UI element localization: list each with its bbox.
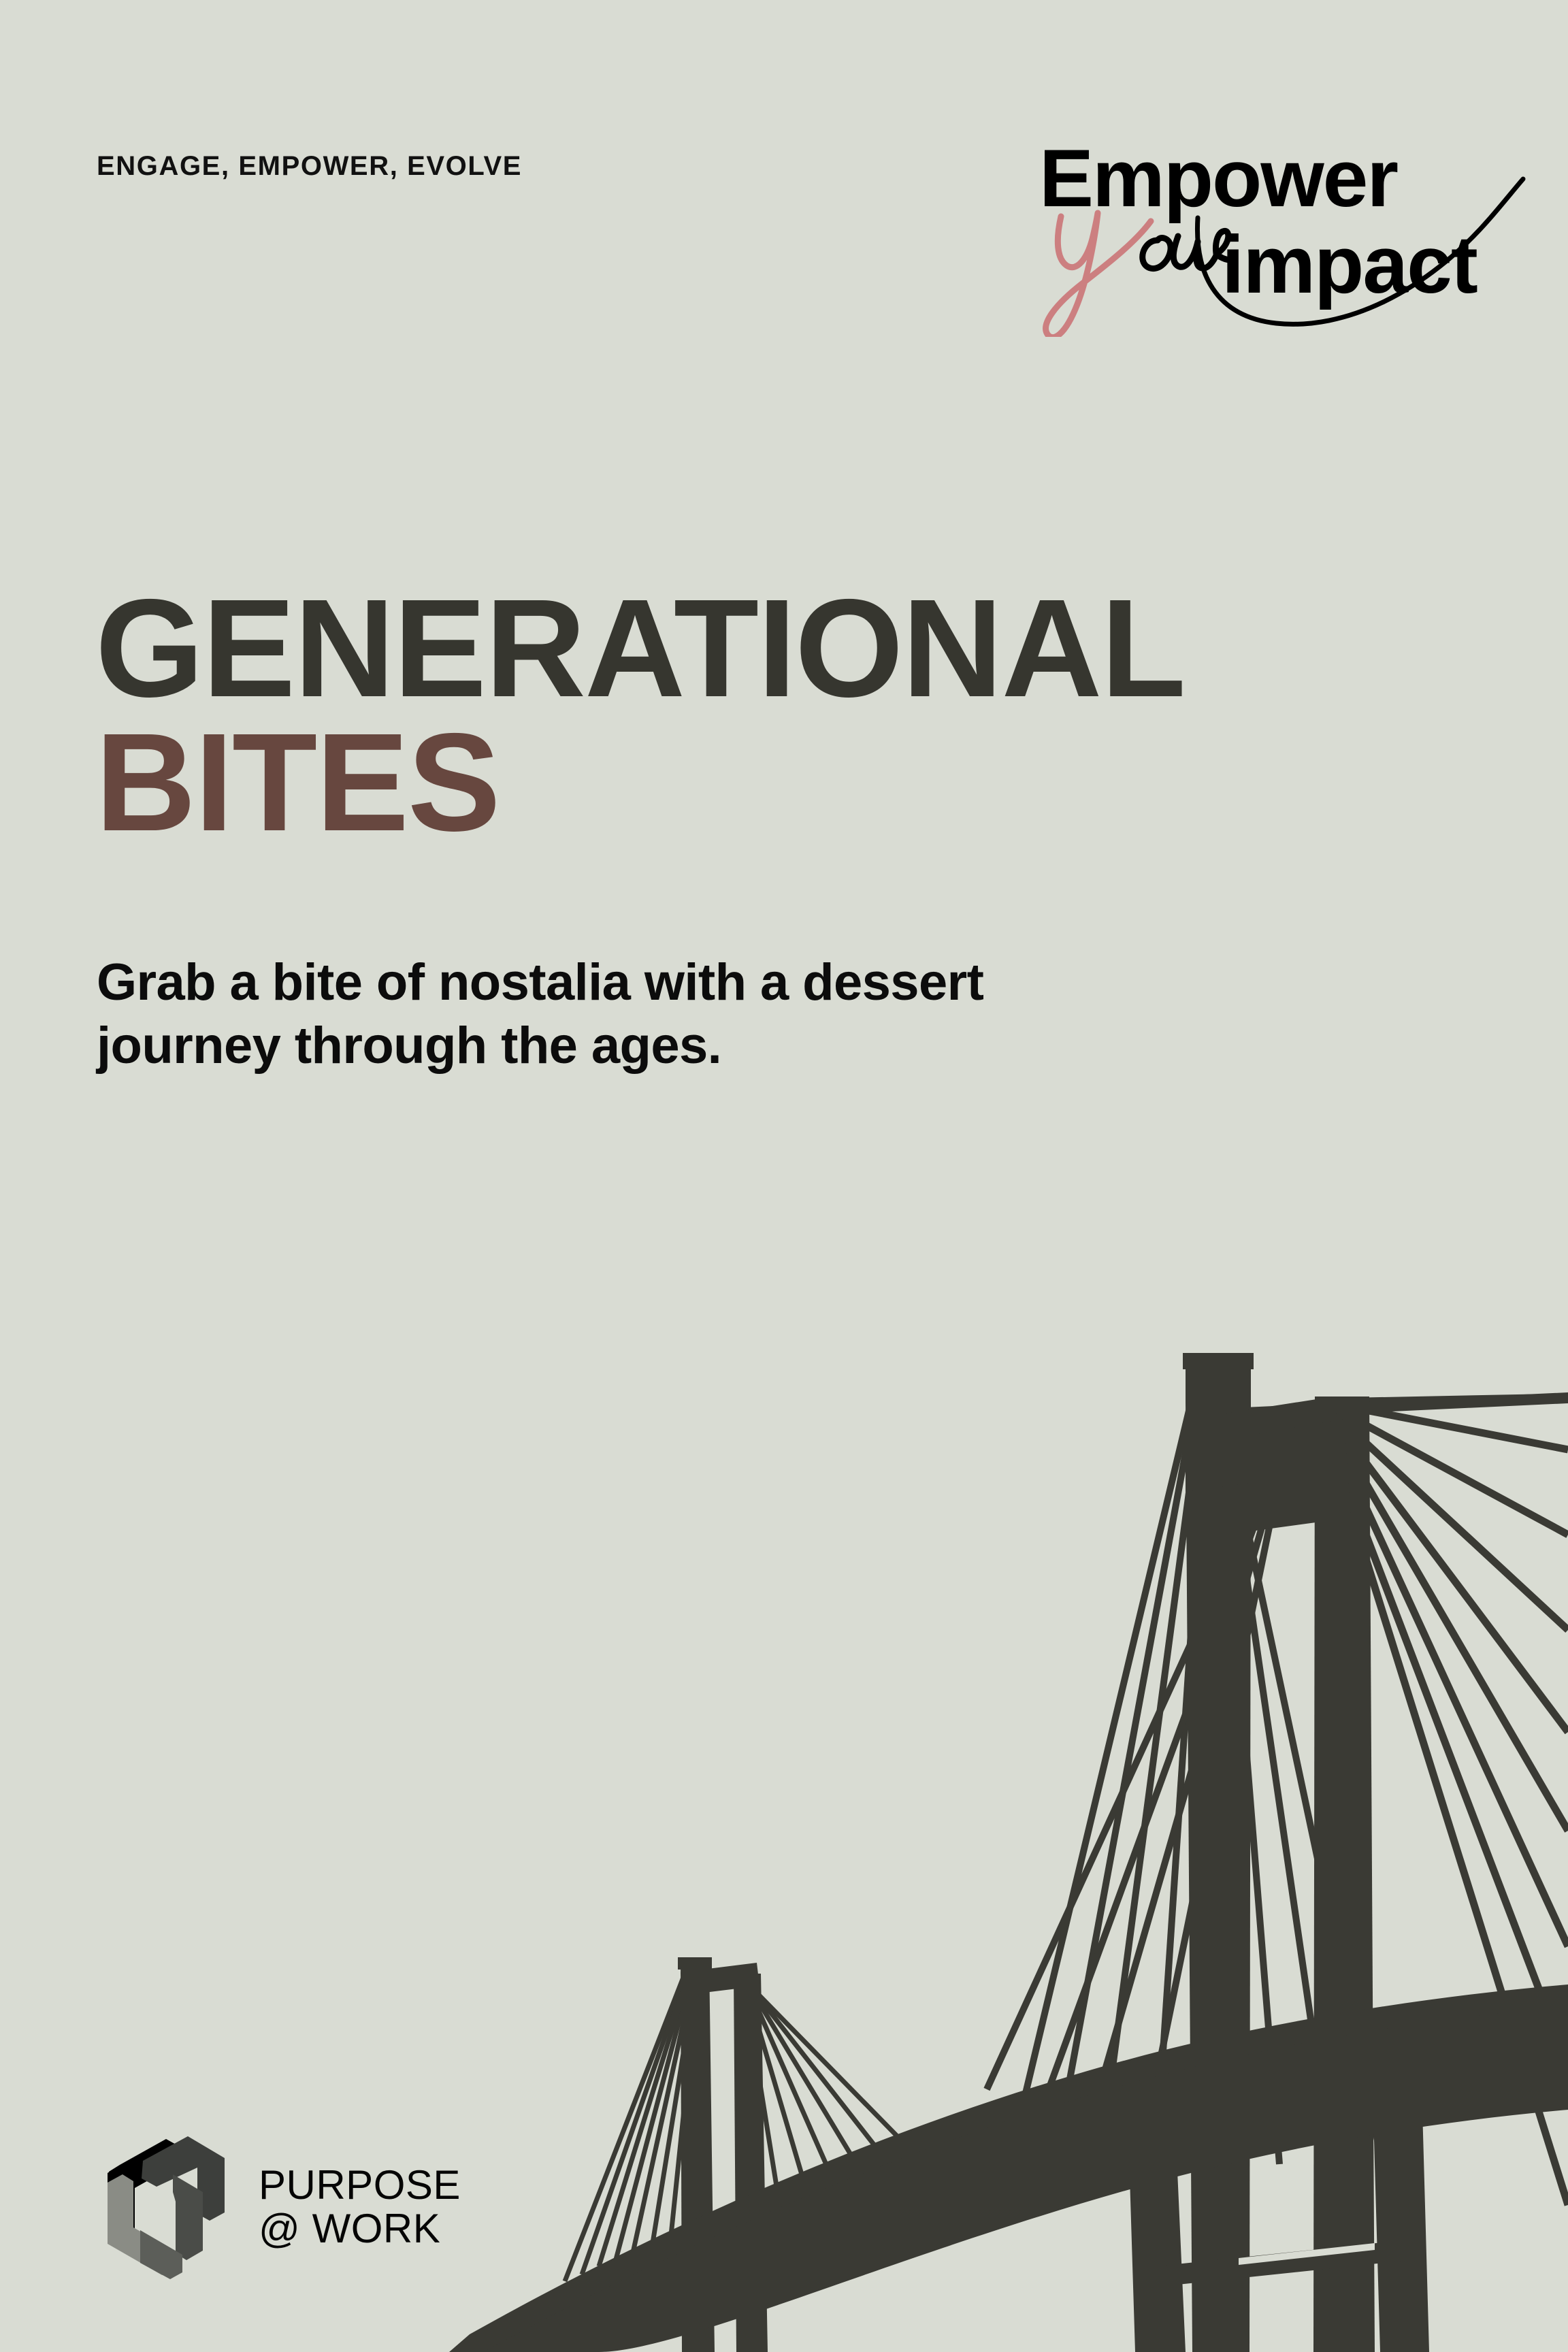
poster-canvas: ENGAGE, EMPOWER, EVOLVE Empower impact [0,0,1568,2352]
subtitle-line-2: journey through the ages. [97,1015,1431,1078]
empower-your-impact-logo: Empower impact [990,126,1541,337]
purpose-at-work-wordmark: PURPOSE @ WORK [259,2163,461,2250]
eyebrow-text: ENGAGE, EMPOWER, EVOLVE [97,151,522,182]
purpose-at-work-logo: PURPOSE @ WORK [99,2122,480,2292]
page-title: GENERATIONAL BITES [95,582,1185,850]
paw-line-1: PURPOSE [259,2163,461,2207]
headline-line-2: BITES [95,716,1185,850]
subtitle-line-1: Grab a bite of nostalia with a dessert [97,951,1431,1015]
cable-stayed-bridge-silhouette [0,0,1568,2352]
svg-text:impact: impact [1222,219,1477,310]
headline-line-1: GENERATIONAL [95,582,1185,716]
svg-text:Empower: Empower [1039,133,1397,224]
paw-line-2: @ WORK [259,2207,461,2251]
subtitle: Grab a bite of nostalia with a dessert j… [97,951,1431,1077]
hexagon-mark-icon [99,2134,233,2281]
